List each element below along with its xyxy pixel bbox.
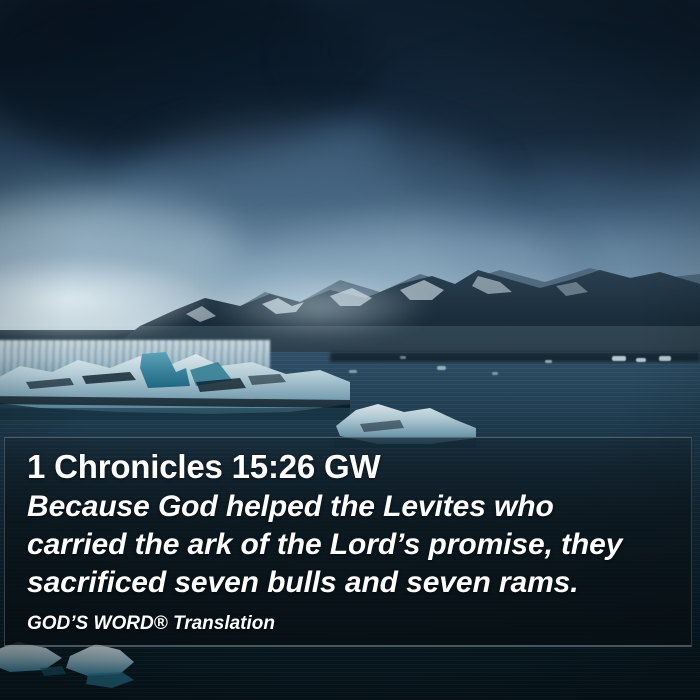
verse-line: sacrificed seven bulls and seven rams. — [27, 564, 669, 602]
verse-line: carried the ark of the Lord’s promise, t… — [27, 526, 669, 564]
verse-reference: 1 Chronicles 15:26 GW — [27, 450, 669, 484]
translation-attribution: GOD’S WORD® Translation — [27, 613, 669, 635]
distant-iceberg — [659, 356, 671, 361]
foreground-ice-floes — [0, 640, 320, 700]
verse-image-card: 1 Chronicles 15:26 GW Because God helped… — [0, 0, 700, 700]
verse-text-panel: 1 Chronicles 15:26 GW Because God helped… — [4, 437, 692, 647]
distant-iceberg — [437, 366, 446, 370]
distant-iceberg — [400, 356, 406, 359]
distant-iceberg — [349, 370, 357, 373]
distant-iceberg — [545, 360, 552, 363]
distant-iceberg — [492, 372, 498, 375]
distant-iceberg — [612, 356, 626, 361]
verse-text: Because God helped the Levites who carri… — [27, 488, 669, 601]
fog-bank — [170, 262, 470, 352]
verse-line: Because God helped the Levites who — [27, 488, 669, 526]
distant-iceberg — [636, 358, 646, 362]
main-iceberg — [0, 352, 350, 422]
